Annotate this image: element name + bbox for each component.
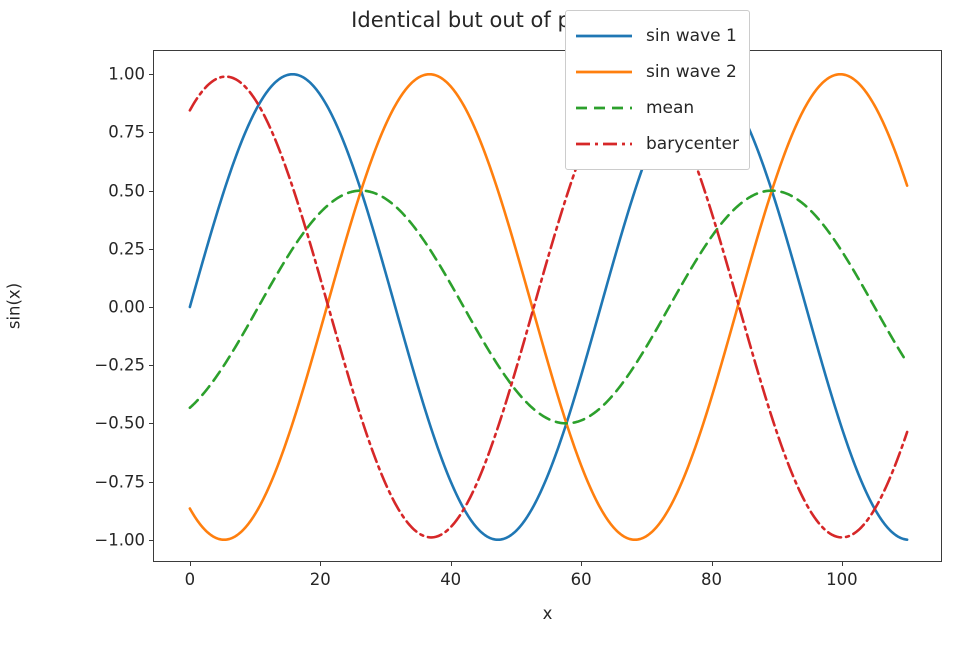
x-tick-label: 60 <box>571 570 592 589</box>
x-tick-label: 0 <box>185 570 196 589</box>
legend-item-sin-wave-2[interactable]: sin wave 2 <box>575 54 739 90</box>
y-tick-label: 0.50 <box>108 181 145 200</box>
y-tick-mark <box>149 307 154 308</box>
series-line-sin-wave-2 <box>190 74 907 539</box>
legend-item-mean[interactable]: mean <box>575 90 739 126</box>
y-tick-label: 0.75 <box>108 123 145 142</box>
x-tick-label: 40 <box>440 570 461 589</box>
x-tick-label: 100 <box>826 570 858 589</box>
x-tick-mark <box>712 561 713 566</box>
y-tick-mark <box>149 191 154 192</box>
x-tick-mark <box>320 561 321 566</box>
y-tick-label: 1.00 <box>108 65 145 84</box>
y-tick-mark <box>149 249 154 250</box>
y-tick-mark <box>149 365 154 366</box>
chart-title: Identical but out of phase time series <box>153 8 942 32</box>
x-tick-mark <box>581 561 582 566</box>
series-line-sin-wave-1 <box>190 74 907 539</box>
series-line-mean <box>190 191 907 424</box>
legend-swatch-icon <box>575 136 633 152</box>
y-tick-label: −0.50 <box>94 414 145 433</box>
legend-label: sin wave 2 <box>646 62 737 82</box>
legend-swatch-icon <box>575 28 633 44</box>
y-tick-mark <box>149 482 154 483</box>
matplotlib-figure: Identical but out of phase time series 1… <box>0 0 972 646</box>
y-tick-label: −0.75 <box>94 472 145 491</box>
y-tick-label: −1.00 <box>94 530 145 549</box>
legend-label: barycenter <box>646 134 739 154</box>
plot-curves <box>154 51 943 563</box>
y-tick-mark <box>149 540 154 541</box>
series-line-barycenter <box>190 77 907 538</box>
x-tick-label: 80 <box>701 570 722 589</box>
x-tick-mark <box>842 561 843 566</box>
chart-legend: sin wave 1sin wave 2meanbarycenter <box>565 10 750 170</box>
x-tick-mark <box>190 561 191 566</box>
y-tick-mark <box>149 74 154 75</box>
legend-item-barycenter[interactable]: barycenter <box>575 126 739 162</box>
legend-item-sin-wave-1[interactable]: sin wave 1 <box>575 18 739 54</box>
plot-axes: 1.000.750.500.250.00−0.25−0.50−0.75−1.00… <box>153 50 942 562</box>
y-tick-mark <box>149 423 154 424</box>
y-tick-label: 0.25 <box>108 239 145 258</box>
x-tick-label: 20 <box>310 570 331 589</box>
legend-swatch-icon <box>575 64 633 80</box>
y-tick-label: −0.25 <box>94 356 145 375</box>
y-tick-mark <box>149 132 154 133</box>
x-axis-label: x <box>153 604 942 623</box>
legend-label: mean <box>646 98 694 118</box>
y-tick-label: 0.00 <box>108 298 145 317</box>
legend-swatch-icon <box>575 100 633 116</box>
x-tick-mark <box>451 561 452 566</box>
y-axis-label: sin(x) <box>5 283 24 329</box>
legend-label: sin wave 1 <box>646 26 737 46</box>
